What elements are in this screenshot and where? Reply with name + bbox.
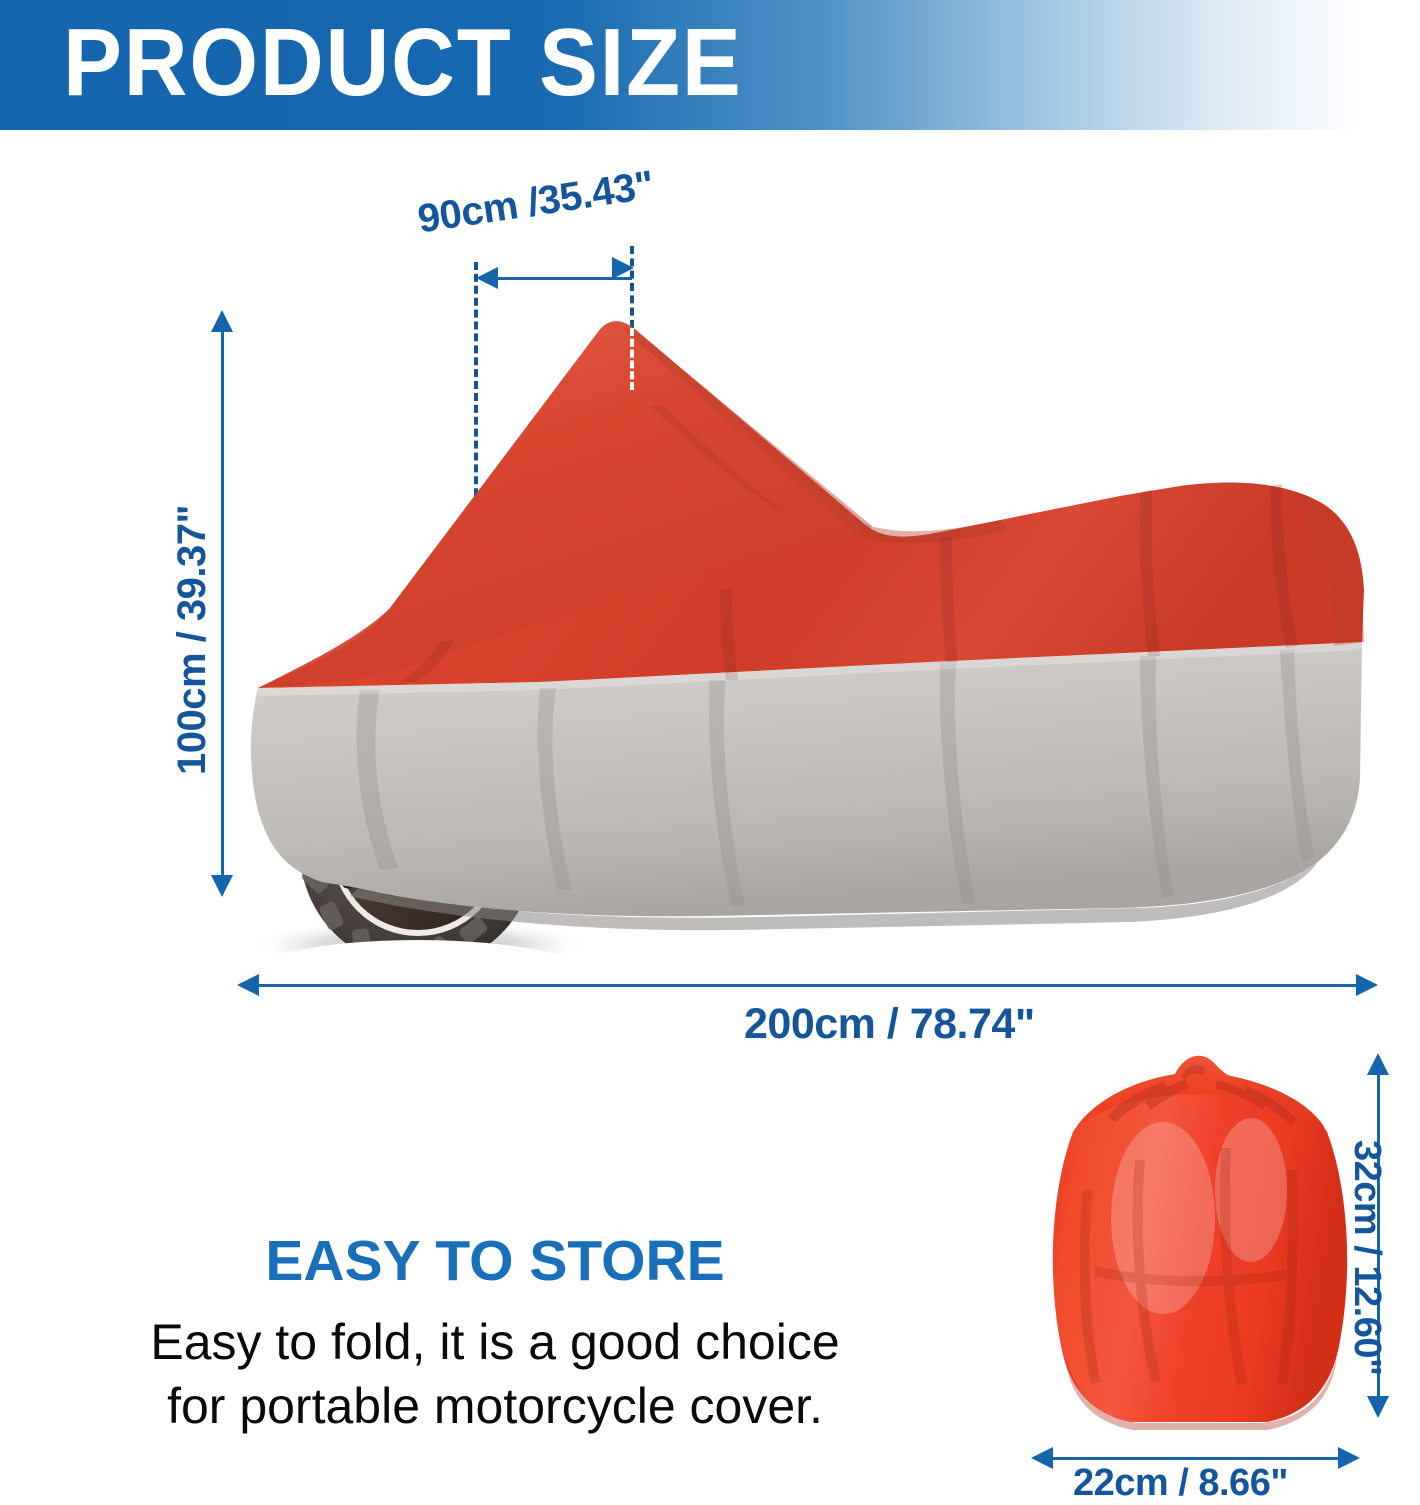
arrowhead-left-length — [237, 974, 259, 996]
motorcycle-cover-svg — [240, 290, 1400, 970]
arrowhead-top-bag-height — [1367, 1053, 1389, 1075]
feature-body-line1: Easy to fold, it is a good choice — [150, 1314, 839, 1370]
dimension-label-bag-width: 22cm / 8.66" — [1073, 1462, 1288, 1505]
feature-body-line2: for portable motorcycle cover. — [0, 1374, 990, 1438]
arrowhead-right-top-width — [612, 257, 634, 279]
dimension-label-bag-height: 32cm / 12.60" — [1345, 1140, 1388, 1375]
page-title: PRODUCT SIZE — [63, 15, 802, 111]
page-title-text: PRODUCT SIZE — [63, 15, 743, 111]
arrowhead-bottom-bag-height — [1367, 1396, 1389, 1418]
dimension-arrow-height — [221, 325, 224, 887]
arrowhead-top-height — [211, 310, 233, 332]
header-banner: PRODUCT SIZE — [0, 0, 1420, 130]
dimension-arrow-length — [252, 984, 1364, 987]
motorcycle-cover-illustration — [240, 290, 1400, 970]
arrowhead-left-bag-width — [1031, 1447, 1053, 1469]
dimension-label-top-width: 90cm /35.43" — [415, 163, 657, 243]
storage-bag-illustration — [1035, 1040, 1365, 1440]
arrowhead-right-length — [1356, 974, 1378, 996]
dimension-arrow-top-width — [487, 277, 632, 280]
dimension-arrow-bag-width — [1046, 1457, 1346, 1460]
dimension-label-length: 200cm / 78.74" — [744, 1000, 1035, 1049]
feature-body: Easy to fold, it is a good choice for po… — [0, 1310, 990, 1438]
storage-bag-svg — [1035, 1040, 1365, 1440]
arrowhead-bottom-height — [211, 875, 233, 897]
dimension-label-height: 100cm / 39.37" — [170, 505, 215, 775]
arrowhead-left-top-width — [476, 267, 498, 289]
feature-heading: EASY TO STORE — [0, 1228, 990, 1294]
dashed-extension-line-right-white — [630, 328, 634, 390]
arrowhead-right-bag-width — [1338, 1447, 1360, 1469]
